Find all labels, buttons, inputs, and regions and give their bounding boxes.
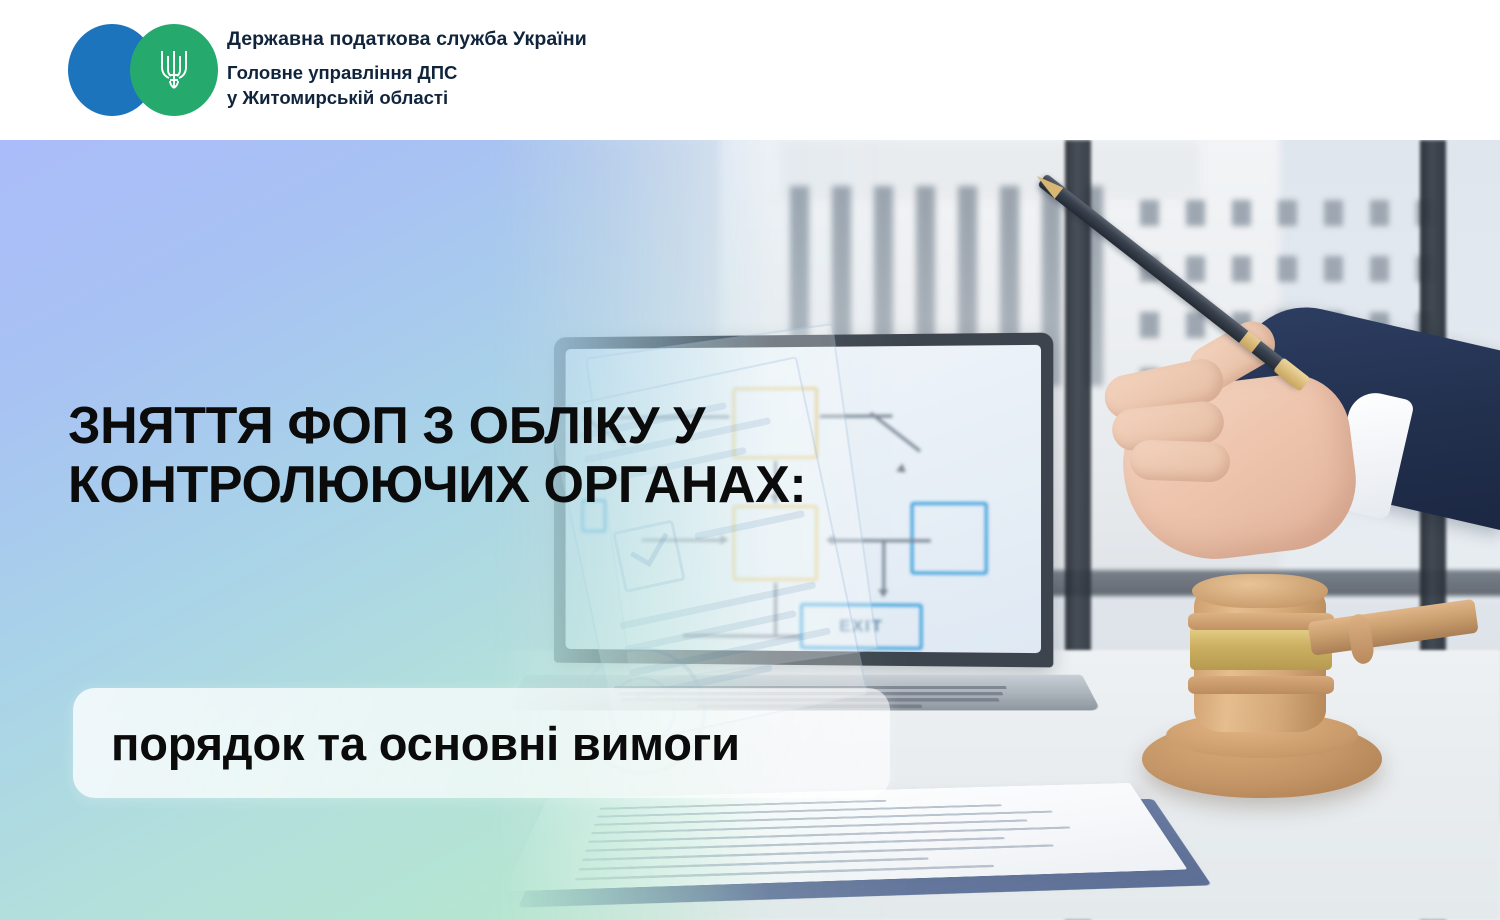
subtitle-box: порядок та основні вимоги [73, 688, 890, 798]
page-title: ЗНЯТТЯ ФОП З ОБЛІКУ У КОНТРОЛЮЮЧИХ ОРГАН… [68, 397, 948, 516]
page-subtitle: порядок та основні вимоги [111, 720, 740, 767]
poster-banner: Державна податкова служба України Головн… [0, 0, 1500, 920]
ukraine-trident-emblem-icon [157, 47, 191, 93]
org-name-line: Державна податкова служба України [227, 30, 587, 50]
department-line: Головне управління ДПС [227, 61, 587, 86]
header-text-block: Державна податкова служба України Головн… [227, 30, 587, 111]
dps-logo [68, 24, 213, 116]
banner-stage: EXIT [0, 140, 1500, 920]
copy-block: ЗНЯТТЯ ФОП З ОБЛІКУ У КОНТРОЛЮЮЧИХ ОРГАН… [0, 140, 1010, 920]
region-line: у Житомирській області [227, 86, 587, 111]
header-bar: Державна податкова служба України Головн… [0, 0, 1500, 140]
green-circle-icon [130, 24, 218, 116]
gavel-lower-lip [1188, 676, 1334, 694]
finger-ring [1129, 439, 1230, 482]
gavel-top-cap [1192, 574, 1328, 608]
